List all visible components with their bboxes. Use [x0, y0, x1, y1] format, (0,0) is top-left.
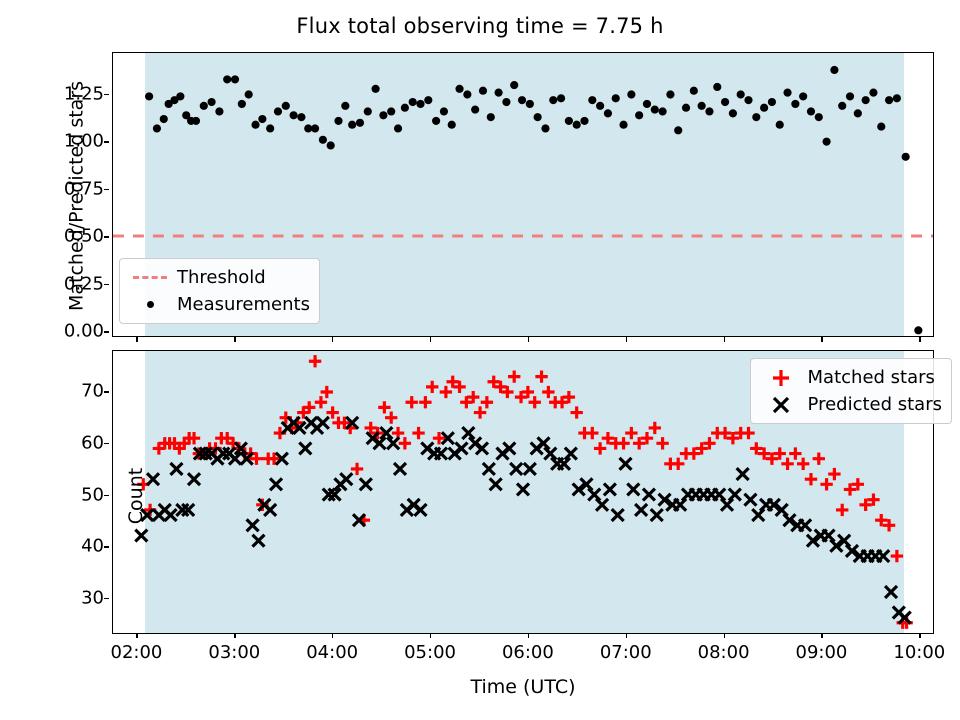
x-tick-mark	[919, 337, 920, 342]
x-tick-mark	[430, 633, 431, 638]
red-plus-marker-icon	[758, 367, 804, 389]
top-panel-x-tick-marks	[112, 337, 934, 343]
y-tick-label: 30	[50, 587, 104, 608]
x-tick-label: 06:00	[502, 642, 554, 663]
x-tick-mark	[332, 633, 333, 638]
x-tick-mark	[724, 633, 725, 638]
x-tick-mark	[919, 633, 920, 638]
x-tick-mark	[528, 633, 529, 638]
y-tick-mark	[104, 141, 109, 142]
x-tick-mark	[136, 337, 137, 342]
x-tick-label: 09:00	[796, 642, 848, 663]
y-tick-label: 70	[50, 381, 104, 402]
legend-item-threshold[interactable]: Threshold	[127, 264, 310, 291]
black-x-marker-icon	[758, 394, 804, 416]
legend-item-matched-stars[interactable]: Matched stars	[758, 364, 942, 391]
x-axis-label: Time (UTC)	[112, 676, 934, 698]
y-tick-label: 0.75	[50, 178, 104, 199]
top-panel-legend: Threshold Measurements	[119, 258, 320, 324]
y-tick-label: 0.25	[50, 273, 104, 294]
x-tick-mark	[234, 633, 235, 638]
y-tick-mark	[104, 94, 109, 95]
y-tick-label: 50	[50, 484, 104, 505]
x-axis-tick-labels: 02:0003:0004:0005:0006:0007:0008:0009:00…	[112, 638, 934, 668]
x-tick-mark	[724, 337, 725, 342]
x-tick-mark	[821, 633, 822, 638]
bottom-panel-legend: Matched stars Predicted stars	[750, 358, 952, 424]
legend-label-matched-stars: Matched stars	[804, 367, 935, 388]
x-tick-mark	[626, 337, 627, 342]
figure-canvas: Flux total observing time = 7.75 h Match…	[0, 0, 960, 720]
y-tick-label: 40	[50, 536, 104, 557]
y-tick-label: 0.00	[50, 321, 104, 342]
x-tick-mark	[626, 633, 627, 638]
x-tick-mark	[528, 337, 529, 342]
legend-label-measurements: Measurements	[173, 294, 310, 315]
y-tick-label: 0.50	[50, 226, 104, 247]
x-tick-label: 04:00	[306, 642, 358, 663]
y-tick-mark	[104, 331, 109, 332]
x-tick-mark	[136, 633, 137, 638]
x-tick-mark	[332, 337, 333, 342]
legend-item-measurements[interactable]: Measurements	[127, 291, 310, 318]
legend-item-predicted-stars[interactable]: Predicted stars	[758, 391, 942, 418]
bottom-panel-y-axis-label: Count	[125, 354, 147, 638]
y-tick-mark	[104, 598, 109, 599]
figure-title: Flux total observing time = 7.75 h	[0, 14, 960, 38]
y-tick-label: 1.25	[50, 83, 104, 104]
x-tick-mark	[430, 337, 431, 342]
measurement-dot-icon	[127, 301, 173, 308]
y-tick-mark	[104, 189, 109, 190]
x-tick-mark	[821, 337, 822, 342]
x-tick-label: 02:00	[111, 642, 163, 663]
y-tick-mark	[104, 284, 109, 285]
x-tick-label: 10:00	[893, 642, 945, 663]
threshold-dashed-line-icon	[127, 276, 173, 279]
legend-label-predicted-stars: Predicted stars	[804, 394, 942, 415]
y-tick-label: 60	[50, 432, 104, 453]
y-tick-mark	[104, 546, 109, 547]
x-tick-label: 08:00	[698, 642, 750, 663]
x-tick-mark	[234, 337, 235, 342]
legend-label-threshold: Threshold	[173, 267, 266, 288]
y-tick-mark	[104, 391, 109, 392]
x-tick-label: 05:00	[404, 642, 456, 663]
y-tick-mark	[104, 443, 109, 444]
top-panel-y-ticks: 0.000.250.500.751.001.25	[44, 52, 104, 337]
y-tick-label: 1.00	[50, 131, 104, 152]
x-tick-label: 07:00	[600, 642, 652, 663]
y-tick-mark	[104, 495, 109, 496]
x-tick-label: 03:00	[208, 642, 260, 663]
y-tick-mark	[104, 236, 109, 237]
bottom-panel-y-ticks: 3040506070	[44, 350, 104, 634]
